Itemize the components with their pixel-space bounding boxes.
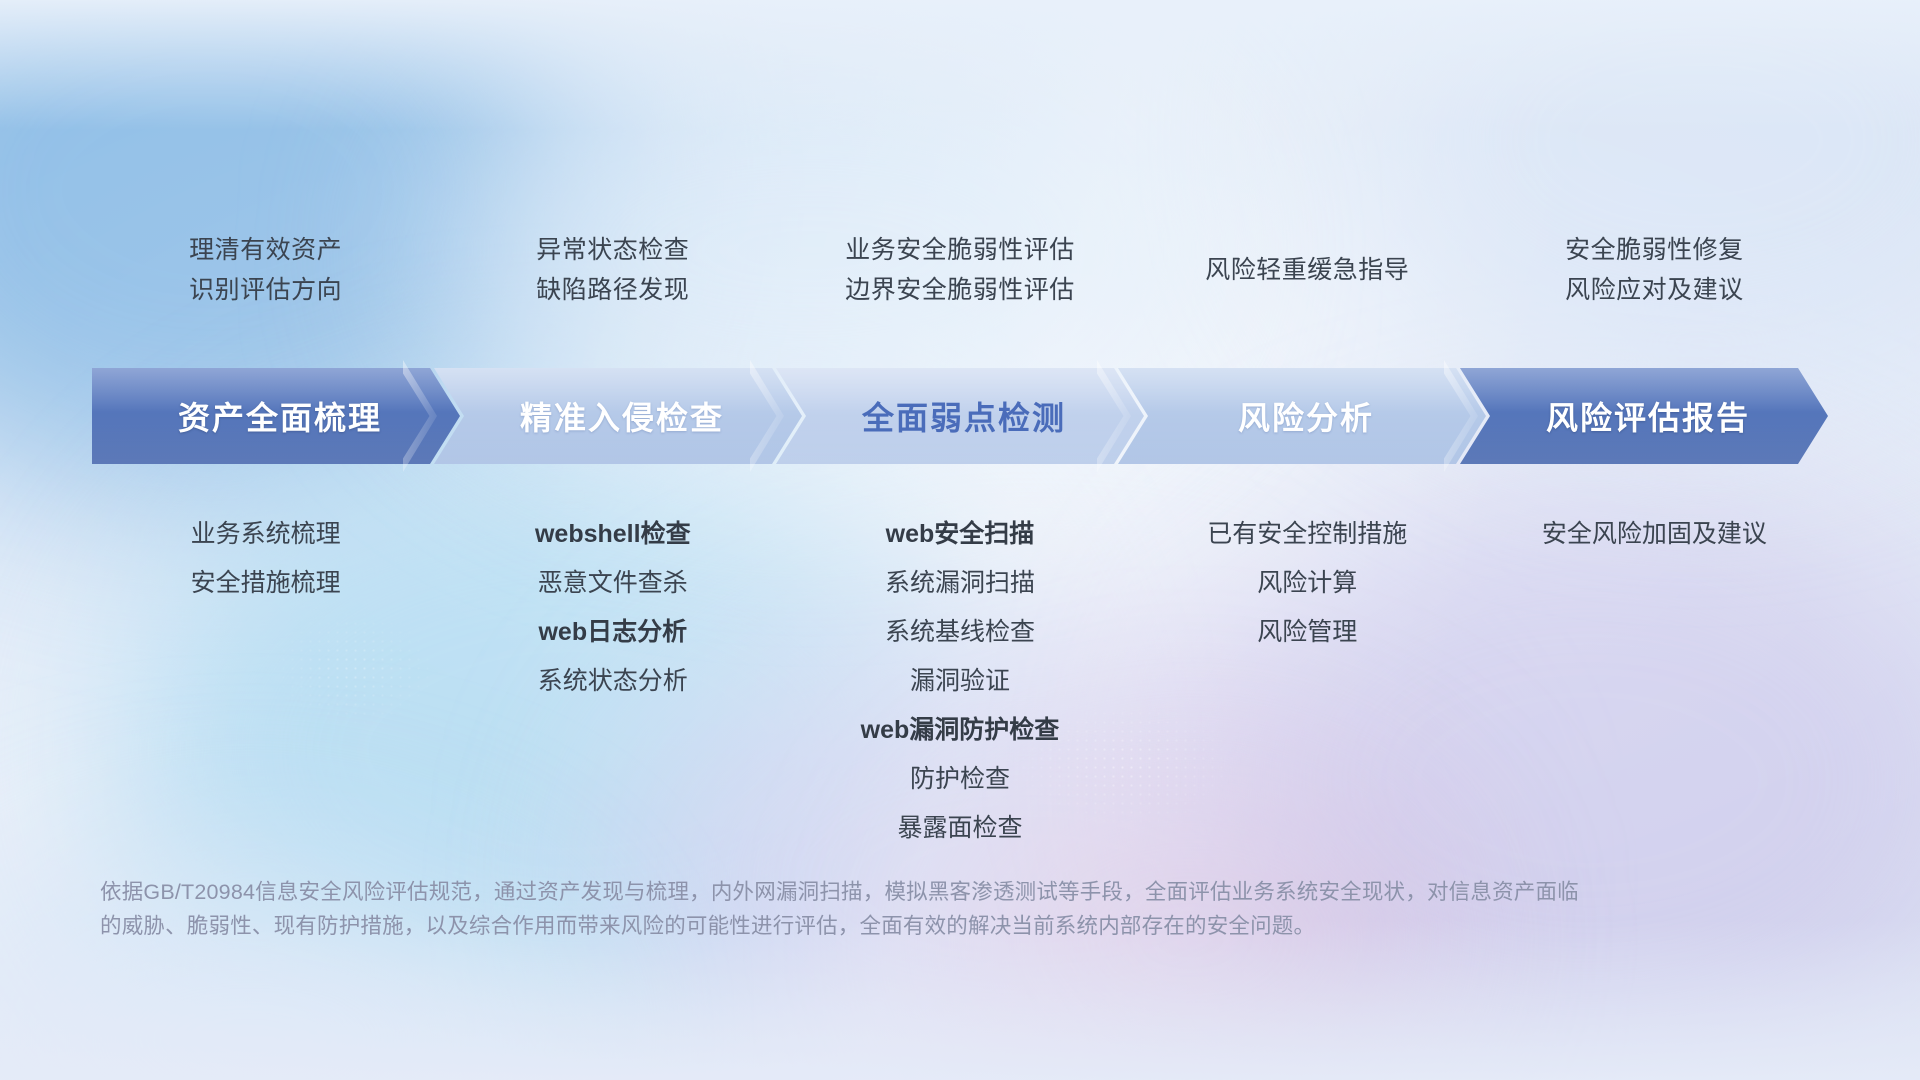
process-chevron-band: 资产全面梳理 精准入侵检查 全面弱点检测 风险分析 风险评估报告 xyxy=(92,368,1828,464)
stage-label: 风险分析 xyxy=(1230,393,1374,439)
list-item: 风险计算 xyxy=(1134,559,1481,608)
list-item: 恶意文件查杀 xyxy=(439,559,786,608)
list-item: 风险管理 xyxy=(1134,608,1481,657)
list-item: 已有安全控制措施 xyxy=(1134,510,1481,559)
detail-list-1: 业务系统梳理 安全措施梳理 xyxy=(92,510,439,608)
top-caption-line: 业务安全脆弱性评估 xyxy=(786,230,1133,270)
footer-description: 依据GB/T20984信息安全风险评估规范，通过资产发现与梳理，内外网漏洞扫描，… xyxy=(100,875,1600,943)
stage-chevron-5[interactable]: 风险评估报告 xyxy=(1460,368,1828,464)
list-item: 暴露面检查 xyxy=(786,804,1133,853)
stage-label: 全面弱点检测 xyxy=(854,393,1066,439)
stage-chevron-3[interactable]: 全面弱点检测 xyxy=(776,368,1144,464)
top-caption-group-3: 业务安全脆弱性评估 边界安全脆弱性评估 xyxy=(786,230,1133,310)
list-item: 安全措施梳理 xyxy=(92,559,439,608)
top-caption-group-5: 安全脆弱性修复 风险应对及建议 xyxy=(1481,230,1828,310)
stage-label: 精准入侵检查 xyxy=(512,393,724,439)
top-caption-line: 理清有效资产 xyxy=(92,230,439,270)
top-caption-group-1: 理清有效资产 识别评估方向 xyxy=(92,230,439,310)
diagram-content: 理清有效资产 识别评估方向 异常状态检查 缺陷路径发现 业务安全脆弱性评估 边界… xyxy=(0,0,1920,1080)
top-caption-line: 风险轻重缓急指导 xyxy=(1134,250,1481,290)
top-caption-line: 异常状态检查 xyxy=(439,230,786,270)
stage-chevron-1[interactable]: 资产全面梳理 xyxy=(92,368,460,464)
top-caption-group-4: 风险轻重缓急指导 xyxy=(1134,230,1481,290)
list-item: web日志分析 xyxy=(439,608,786,657)
top-caption-line: 识别评估方向 xyxy=(92,270,439,310)
detail-list-4: 已有安全控制措施 风险计算 风险管理 xyxy=(1134,510,1481,657)
list-item: 业务系统梳理 xyxy=(92,510,439,559)
list-item: 系统漏洞扫描 xyxy=(786,559,1133,608)
list-item: 漏洞验证 xyxy=(786,657,1133,706)
top-caption-line: 安全脆弱性修复 xyxy=(1481,230,1828,270)
list-item: 安全风险加固及建议 xyxy=(1481,510,1828,559)
top-caption-group-2: 异常状态检查 缺陷路径发现 xyxy=(439,230,786,310)
list-item: 防护检查 xyxy=(786,755,1133,804)
stage-label: 风险评估报告 xyxy=(1538,393,1750,439)
list-item: web安全扫描 xyxy=(786,510,1133,559)
list-item: web漏洞防护检查 xyxy=(786,706,1133,755)
stage-chevron-4[interactable]: 风险分析 xyxy=(1118,368,1486,464)
slide-canvas: 理清有效资产 识别评估方向 异常状态检查 缺陷路径发现 业务安全脆弱性评估 边界… xyxy=(0,0,1920,1080)
stage-label: 资产全面梳理 xyxy=(170,393,382,439)
detail-list-3: web安全扫描 系统漏洞扫描 系统基线检查 漏洞验证 web漏洞防护检查 防护检… xyxy=(786,510,1133,853)
list-item: webshell检查 xyxy=(439,510,786,559)
top-caption-row: 理清有效资产 识别评估方向 异常状态检查 缺陷路径发现 业务安全脆弱性评估 边界… xyxy=(92,230,1828,310)
stage-chevron-2[interactable]: 精准入侵检查 xyxy=(434,368,802,464)
detail-list-2: webshell检查 恶意文件查杀 web日志分析 系统状态分析 xyxy=(439,510,786,706)
top-caption-line: 缺陷路径发现 xyxy=(439,270,786,310)
list-item: 系统基线检查 xyxy=(786,608,1133,657)
top-caption-line: 风险应对及建议 xyxy=(1481,270,1828,310)
detail-list-row: 业务系统梳理 安全措施梳理 webshell检查 恶意文件查杀 web日志分析 … xyxy=(92,510,1828,853)
list-item: 系统状态分析 xyxy=(439,657,786,706)
top-caption-line: 边界安全脆弱性评估 xyxy=(786,270,1133,310)
detail-list-5: 安全风险加固及建议 xyxy=(1481,510,1828,559)
